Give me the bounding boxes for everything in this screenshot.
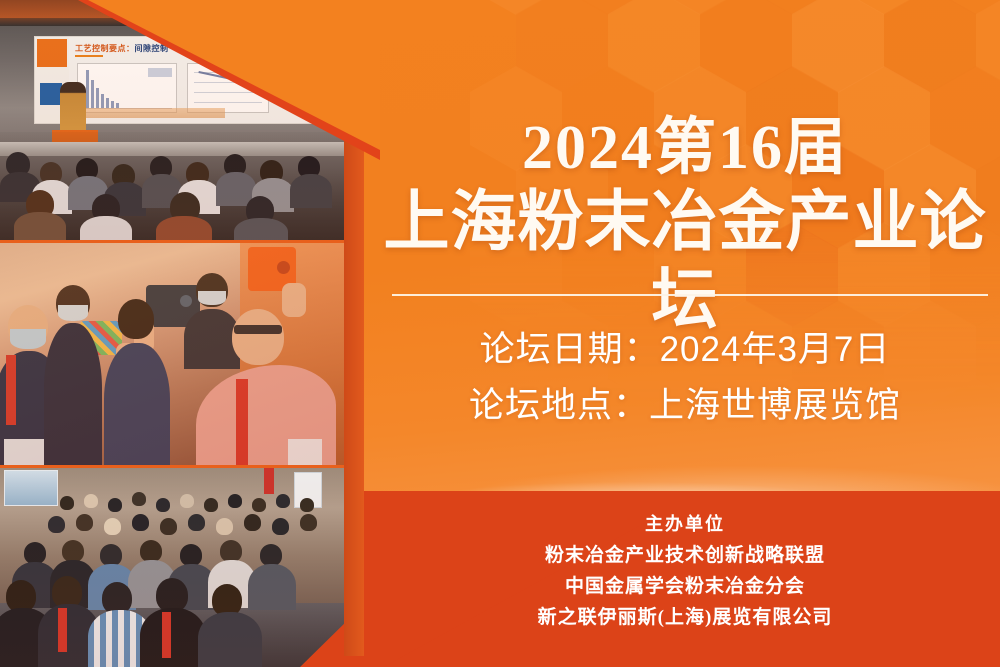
- forum-venue: 论坛地点：上海世博展览馆: [370, 378, 1000, 434]
- photo-audience-wide: [0, 468, 360, 667]
- poster-root: 工艺控制要点：间隙控制: [0, 0, 1000, 667]
- photo-separator-top: [0, 240, 360, 243]
- organizer-2: 中国金属学会粉末冶金分会: [370, 571, 1000, 602]
- organizer-block: 主办单位 粉末冶金产业技术创新战略联盟 中国金属学会粉末冶金分会 新之联伊丽斯(…: [370, 508, 1000, 633]
- poster-title: 2024第16届 上海粉末冶金产业论坛: [370, 112, 1000, 340]
- title-line-1: 2024第16届: [370, 112, 1000, 184]
- forum-date: 论坛日期：2024年3月7日: [370, 322, 1000, 378]
- photo-audience-phones: [0, 243, 360, 465]
- organizer-1: 粉末冶金产业技术创新战略联盟: [370, 540, 1000, 571]
- title-divider: [392, 294, 988, 296]
- organizer-heading: 主办单位: [370, 508, 1000, 540]
- collage-right-edge: [344, 96, 364, 656]
- title-line-2: 上海粉末冶金产业论坛: [370, 184, 1000, 340]
- photo-separator-bottom: [0, 465, 360, 468]
- organizer-3: 新之联伊丽斯(上海)展览有限公司: [370, 602, 1000, 633]
- event-meta: 论坛日期：2024年3月7日 论坛地点：上海世博展览馆: [370, 322, 1000, 434]
